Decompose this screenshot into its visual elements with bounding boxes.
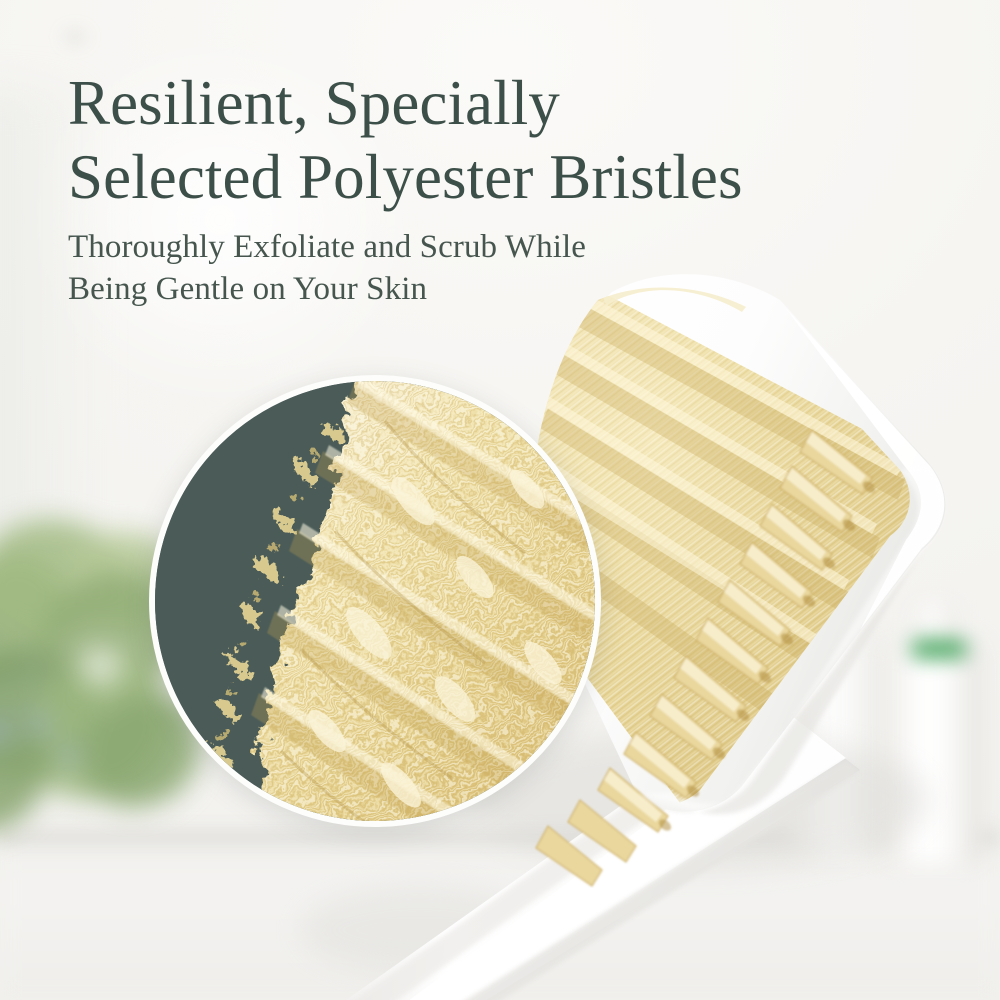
magnified-detail-circle [149, 375, 601, 827]
text-block: Resilient, Specially Selected Polyester … [68, 66, 908, 310]
magnified-bristle-detail [155, 381, 595, 821]
page-title: Resilient, Specially Selected Polyester … [68, 66, 908, 215]
product-feature-image: Resilient, Specially Selected Polyester … [0, 0, 1000, 1000]
subtitle: Thoroughly Exfoliate and Scrub While Bei… [68, 227, 908, 311]
